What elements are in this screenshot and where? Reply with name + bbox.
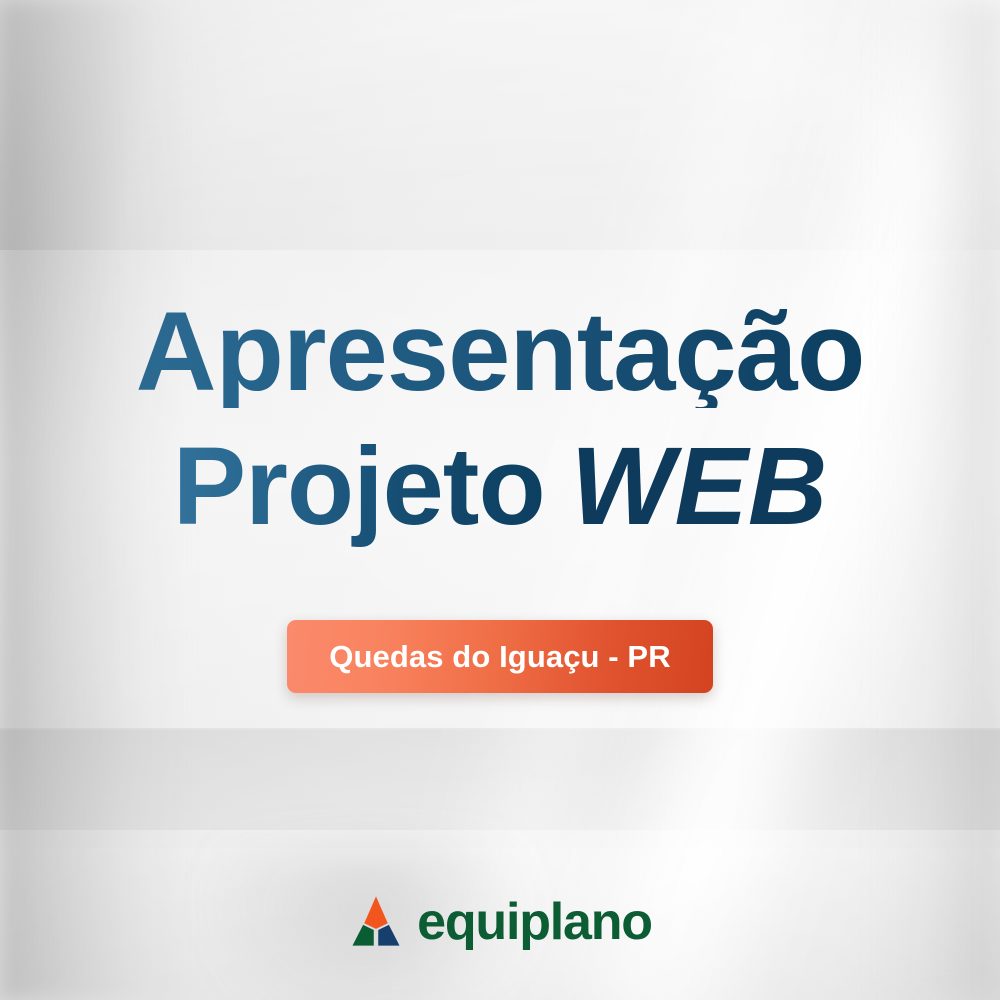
- headline-word-web: WEB: [571, 425, 828, 548]
- headline-line-apresentacao: Apresentação: [0, 296, 1000, 408]
- slide-content: Apresentação ProjetoWEB Quedas do Iguaçu…: [0, 0, 1000, 1000]
- location-badge: Quedas do Iguaçu - PR: [287, 620, 713, 693]
- headline-line-projeto-web: ProjetoWEB: [0, 432, 1000, 542]
- slide-headline: Apresentação ProjetoWEB: [0, 296, 1000, 542]
- brand-name: equiplano: [417, 896, 652, 948]
- equiplano-triangle-logo-icon: [348, 893, 404, 949]
- headline-word-projeto: Projeto: [173, 425, 545, 548]
- presentation-slide: Apresentação ProjetoWEB Quedas do Iguaçu…: [0, 0, 1000, 1000]
- brand-lockup: equiplano: [0, 893, 1000, 949]
- location-badge-container: Quedas do Iguaçu - PR: [0, 620, 1000, 693]
